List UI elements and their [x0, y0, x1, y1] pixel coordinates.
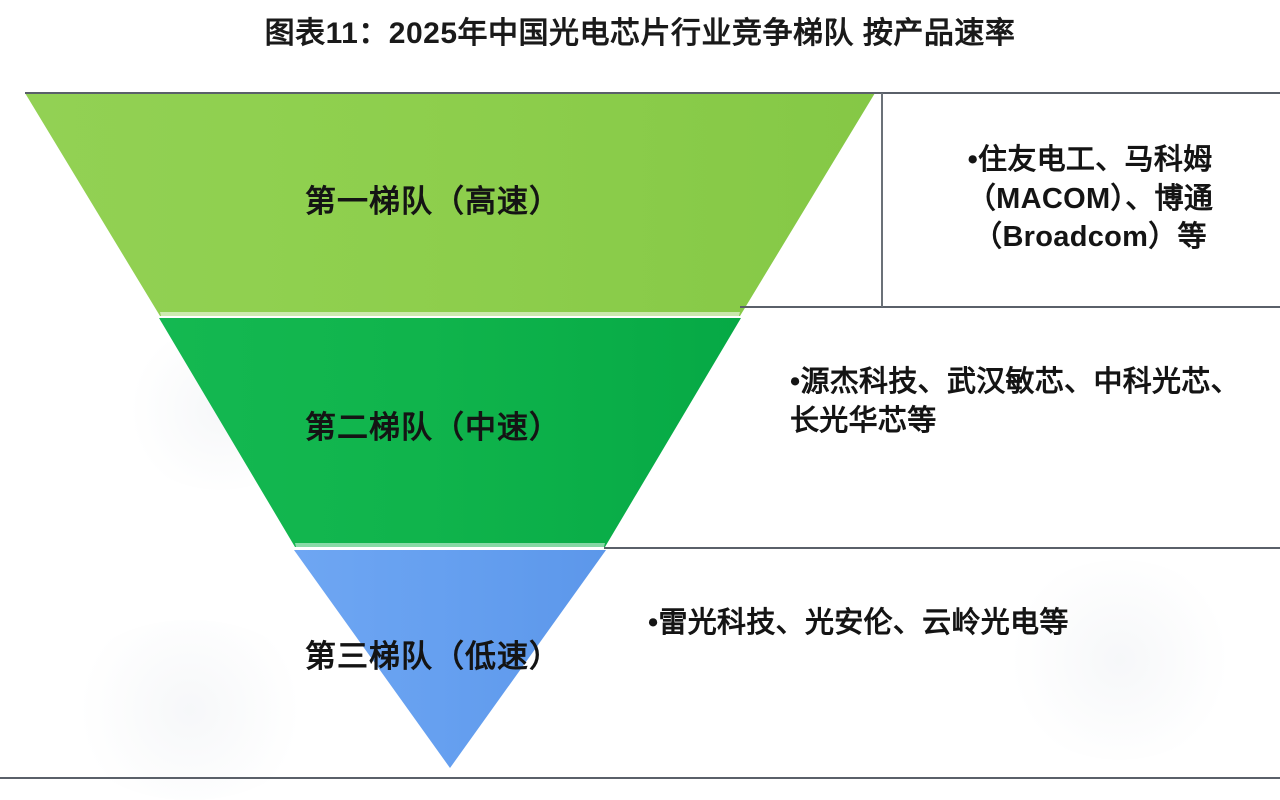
- tier-3-label: 第三梯队（低速）: [305, 641, 561, 672]
- tier-1-label: 第一梯队（高速）: [305, 186, 561, 217]
- competitive-tier-pyramid-figure: 图表11：2025年中国光电芯片行业竞争梯队 按产品速率: [0, 0, 1280, 792]
- tier-3-companies: •雷光科技、光安伦、云岭光电等: [648, 604, 1248, 643]
- tier-2-band-edge: [295, 543, 605, 547]
- tier-1-band-edge: [160, 312, 740, 316]
- tier-2-label: 第二梯队（中速）: [305, 412, 561, 443]
- tier-2-companies: •源杰科技、武汉敏芯、中科光芯、长光华芯等: [790, 363, 1240, 440]
- tier-1-companies: •住友电工、马科姆（MACOM）、博通（Broadcom）等: [940, 141, 1240, 257]
